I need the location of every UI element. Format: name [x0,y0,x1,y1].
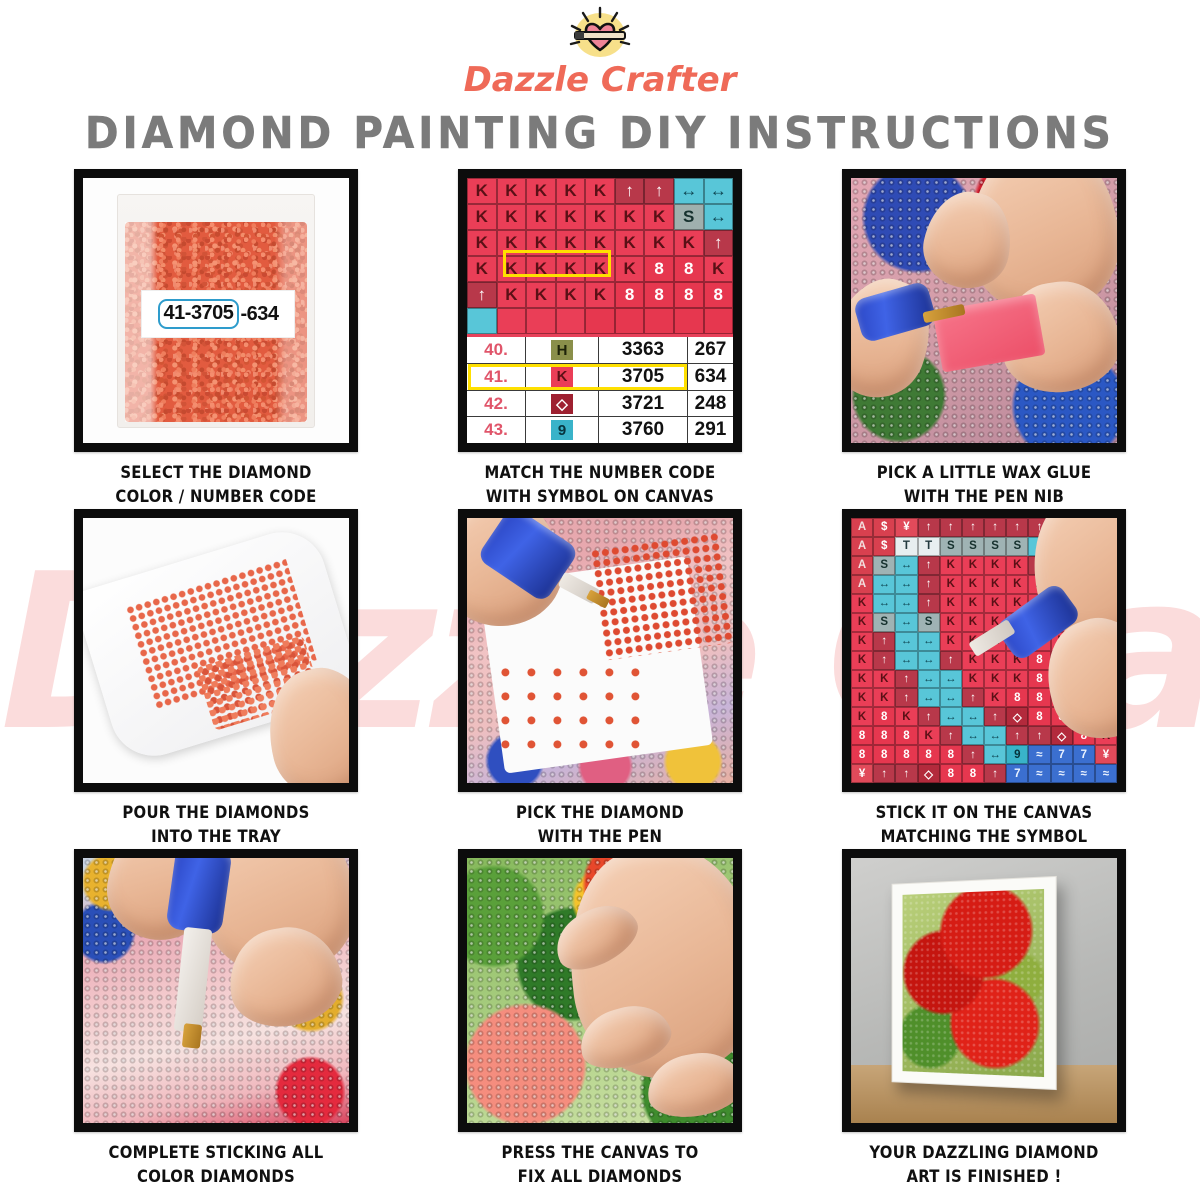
step-caption-4: POUR THE DIAMONDS INTO THE TRAY [66,801,366,849]
canvas-grid-cell: ↔ [940,688,962,707]
legend-symbol: 9 [551,420,573,440]
canvas-grid-cell: K [984,651,1006,670]
caption-line-1: STICK IT ON THE CANVAS [834,801,1134,825]
caption-line-1: YOUR DAZZLING DIAMOND [834,1141,1134,1165]
page-header: Dazzle Crafter DIAMOND PAINTING DIY INST… [0,0,1200,159]
canvas-grid-cell: K [851,670,873,689]
brand-name: Dazzle Crafter [0,60,1200,100]
color-legend-table: 40. H 3363 267 41. K 3705 634 [467,337,733,443]
canvas-grid-cell: ↑ [984,764,1006,783]
chart-cell: K [704,256,734,282]
step-caption-2: MATCH THE NUMBER CODE WITH SYMBOL ON CAN… [450,461,750,509]
canvas-grid-cell: K [851,613,873,632]
chart-cell: ↑ [467,282,497,308]
canvas-grid-cell: ↔ [962,726,984,745]
canvas-grid-cell: T [918,537,940,556]
canvas-grid-cell: 8 [873,726,895,745]
canvas-grid-cell: ↔ [895,594,917,613]
canvas-grid-cell: ↑ [918,707,940,726]
step-card-5: PICK THE DIAMOND WITH THE PEN [458,509,742,849]
chart-cell [556,308,586,334]
canvas-grid-cell: ↑ [895,688,917,707]
canvas-grid-cell: 8 [940,745,962,764]
legend-symbol-cell: 9 [526,417,599,443]
step-card-3: PICK A LITTLE WAX GLUE WITH THE PEN NIB [842,169,1126,509]
canvas-grid-cell: S [1006,537,1028,556]
canvas-grid-cell: ≈ [1051,764,1073,783]
canvas-grid-cell: ↔ [940,707,962,726]
canvas-grid-cell: 8 [1028,707,1050,726]
caption-line-2: WITH THE PEN NIB [834,485,1134,509]
chart-cell: K [526,204,556,230]
legend-number: 40. [467,337,526,363]
canvas-grid-cell: ↔ [962,707,984,726]
step-card-8: PRESS THE CANVAS TO FIX ALL DIAMONDS [458,849,742,1189]
step-card-9: YOUR DAZZLING DIAMOND ART IS FINISHED ! [842,849,1126,1189]
picture-frame [892,876,1057,1090]
canvas-grid-cell: ↑ [1006,726,1028,745]
chart-cell [674,308,704,334]
code-highlight: 41-3705 [158,299,240,329]
legend-number: 43. [467,417,526,443]
chart-cell: ↑ [615,178,645,204]
step-card-7: COMPLETE STICKING ALL COLOR DIAMONDS [74,849,358,1189]
step-image-8 [458,849,742,1132]
chart-cell [615,308,645,334]
chart-cell: K [526,178,556,204]
legend-row: 42. ◇ 3721 248 [467,391,733,418]
chart-cell: 8 [615,282,645,308]
chart-cell: K [644,230,674,256]
step-image-1: 41-3705-634 [74,169,358,452]
step-caption-6: STICK IT ON THE CANVAS MATCHING THE SYMB… [834,801,1134,849]
canvas-grid-cell: K [1006,556,1028,575]
chart-cell: K [467,178,497,204]
chart-cell: 8 [674,282,704,308]
canvas-grid-cell: ↑ [1006,518,1028,537]
canvas-grid-cell: ↑ [1028,726,1050,745]
chart-cell: ↑ [704,230,734,256]
canvas-grid-cell: ↑ [895,764,917,783]
canvas-grid-cell: K [851,632,873,651]
pen-picking-diamond-art [467,518,733,783]
canvas-grid-cell: 8 [873,707,895,726]
step-caption-9: YOUR DAZZLING DIAMOND ART IS FINISHED ! [834,1141,1134,1189]
legend-dmc-code: 3705 [599,364,688,390]
chart-cell: K [526,282,556,308]
step-image-3 [842,169,1126,452]
canvas-grid-cell: ↑ [918,594,940,613]
canvas-grid-cell: S [940,537,962,556]
canvas-grid-cell: ¥ [1095,745,1117,764]
canvas-grid-cell: 8 [873,745,895,764]
legend-dmc-code: 3760 [599,417,688,443]
chart-cell: K [556,204,586,230]
canvas-grid-cell: K [962,575,984,594]
legend-symbol-cell: ◇ [526,391,599,417]
canvas-grid-cell: ↔ [918,632,940,651]
canvas-grid-cell: 7 [1051,745,1073,764]
canvas-grid-cell: K [984,556,1006,575]
canvas-grid-cell: K [984,670,1006,689]
step-image-5 [458,509,742,792]
tray-diamond-rows [590,531,733,660]
step-image-4 [74,509,358,792]
step-card-4: POUR THE DIAMONDS INTO THE TRAY [74,509,358,849]
legend-number: 42. [467,391,526,417]
canvas-grid-cell: ≈ [1028,764,1050,783]
step-image-2: K K K K K ↑ ↑ ↔ ↔ K K K K [458,169,742,452]
step-caption-8: PRESS THE CANVAS TO FIX ALL DIAMONDS [450,1141,750,1189]
canvas-grid-cell: ↑ [918,518,940,537]
legend-dmc-code: 3721 [599,391,688,417]
canvas-grid-cell: ↔ [895,632,917,651]
canvas-grid-cell: ↑ [940,726,962,745]
pen-nib [182,1023,202,1049]
canvas-grid-cell: S [984,537,1006,556]
canvas-grid-cell: 8 [1028,688,1050,707]
canvas-grid-cell: A [851,537,873,556]
legend-symbol: K [551,367,573,387]
canvas-grid-cell: ◇ [1006,707,1028,726]
chart-cell: K [497,204,527,230]
canvas-grid-cell: ↔ [984,745,1006,764]
canvas-grid-cell: ↔ [984,726,1006,745]
caption-line-2: MATCHING THE SYMBOL [834,825,1134,849]
caption-line-1: PICK THE DIAMOND [450,801,750,825]
canvas-grid-cell: K [940,594,962,613]
canvas-grid-cell: ↑ [918,575,940,594]
caption-line-2: ART IS FINISHED ! [834,1165,1134,1189]
canvas-grid-cell: A [851,575,873,594]
chart-cell: ↔ [704,178,734,204]
canvas-grid-cell: 8 [851,745,873,764]
step-image-6: A$¥↑↑↑↑↑↑↑KKA$TTSSSS↔↔SKAS↔↑KKKK↑↔↔KA↔↔↑… [842,509,1126,792]
legend-symbol-cell: K [526,364,599,390]
step-caption-3: PICK A LITTLE WAX GLUE WITH THE PEN NIB [834,461,1134,509]
legend-symbol: H [551,340,573,360]
chart-cell [704,308,734,334]
chart-cell: K [467,204,497,230]
caption-line-1: PRESS THE CANVAS TO [450,1141,750,1165]
caption-line-2: WITH SYMBOL ON CANVAS [450,485,750,509]
pen-picking-wax-art [851,178,1117,443]
step-caption-7: COMPLETE STICKING ALL COLOR DIAMONDS [66,1141,366,1189]
canvas-grid-cell: ↔ [873,575,895,594]
chart-cell: K [467,230,497,256]
bag-label: 41-3705-634 [141,290,295,338]
chart-cell [644,308,674,334]
legend-row: 43. 9 3760 291 [467,417,733,443]
poppy-artwork [903,889,1045,1077]
canvas-grid-cell: K [851,688,873,707]
canvas-grid-cell: ↑ [962,688,984,707]
canvas-grid-cell: ↔ [895,613,917,632]
chart-cell: K [644,204,674,230]
canvas-grid-cell: ◇ [918,764,940,783]
canvas-grid-cell: T [895,537,917,556]
brand-logo: Dazzle Crafter [0,4,1200,100]
canvas-grid-cell: K [940,575,962,594]
step-image-7 [74,849,358,1132]
chart-cell: ↔ [704,204,734,230]
chart-cell: 8 [644,282,674,308]
canvas-grid-cell: ↔ [940,670,962,689]
canvas-grid-cell: ↔ [895,651,917,670]
canvas-grid-cell: ↑ [895,670,917,689]
canvas-grid-cell: ¥ [895,518,917,537]
canvas-grid-cell: 8 [895,745,917,764]
canvas-grid-cell: K [918,726,940,745]
chart-cell: K [585,178,615,204]
canvas-grid-cell: 9 [1006,745,1028,764]
legend-row: 41. K 3705 634 [467,364,733,391]
chart-cell: K [556,178,586,204]
steps-grid: 41-3705-634 SELECT THE DIAMOND COLOR / N… [74,169,1126,1189]
canvas-grid-cell: $ [873,537,895,556]
chart-cell: S [674,204,704,230]
legend-number: 41. [467,364,526,390]
canvas-chart-art: K K K K K ↑ ↑ ↔ ↔ K K K K [467,178,733,443]
caption-line-1: POUR THE DIAMONDS [66,801,366,825]
chart-cell: K [615,204,645,230]
step-image-9 [842,849,1126,1132]
canvas-grid-cell: ↑ [962,518,984,537]
canvas-grid-cell: K [962,670,984,689]
heart-sunburst-icon [561,4,639,64]
legend-count: 267 [688,337,733,363]
canvas-grid-cell: S [873,613,895,632]
canvas-grid-cell: ≈ [1073,764,1095,783]
chart-cell: K [467,256,497,282]
legend-symbol: ◇ [551,394,573,414]
legend-dmc-code: 3363 [599,337,688,363]
step-card-1: 41-3705-634 SELECT THE DIAMOND COLOR / N… [74,169,358,509]
legend-count: 248 [688,391,733,417]
canvas-grid-cell: ◇ [1051,726,1073,745]
caption-line-2: COLOR / NUMBER CODE [66,485,366,509]
canvas-grid-cell: ↔ [918,651,940,670]
canvas-grid-cell: ↔ [873,594,895,613]
canvas-grid-cell: A [851,556,873,575]
code-rest: -634 [240,303,278,326]
framed-poppy-painting-art [851,858,1117,1123]
loose-diamonds [495,664,645,756]
caption-line-1: COMPLETE STICKING ALL [66,1141,366,1165]
canvas-grid-cell: K [984,575,1006,594]
chart-cell: 8 [674,256,704,282]
canvas-grid-cell: 8 [962,764,984,783]
canvas-grid-cell: ≈ [1028,745,1050,764]
canvas-grid-cell: K [940,632,962,651]
canvas-grid-cell: $ [873,518,895,537]
canvas-grid-cell: K [895,707,917,726]
caption-line-1: MATCH THE NUMBER CODE [450,461,750,485]
chart-cell: K [497,178,527,204]
chart-cell: 8 [704,282,734,308]
canvas-grid-cell: ↑ [962,745,984,764]
caption-line-2: FIX ALL DIAMONDS [450,1165,750,1189]
canvas-grid-cell: A [851,518,873,537]
canvas-grid-cell: 8 [1006,688,1028,707]
legend-symbol-cell: H [526,337,599,363]
canvas-grid-cell: 8 [851,726,873,745]
canvas-grid-cell: S [873,556,895,575]
chart-cell: K [585,282,615,308]
canvas-grid-cell: K [984,688,1006,707]
canvas-grid-cell: ↔ [918,670,940,689]
canvas-grid-cell: K [940,556,962,575]
bag-of-diamonds-art: 41-3705-634 [83,178,349,443]
canvas-grid-cell: ↑ [918,556,940,575]
canvas-grid-cell: 7 [1073,745,1095,764]
legend-count: 291 [688,417,733,443]
canvas-grid-cell: K [962,613,984,632]
step-caption-5: PICK THE DIAMOND WITH THE PEN [450,801,750,849]
canvas-grid-cell: ↔ [918,688,940,707]
step-card-6: A$¥↑↑↑↑↑↑↑KKA$TTSSSS↔↔SKAS↔↑KKKK↑↔↔KA↔↔↑… [842,509,1126,849]
chart-cell: K [556,282,586,308]
chart-cell: K [585,204,615,230]
symbol-grid-art: A$¥↑↑↑↑↑↑↑KKA$TTSSSS↔↔SKAS↔↑KKKK↑↔↔KA↔↔↑… [851,518,1117,783]
canvas-grid-cell: 7 [1006,764,1028,783]
canvas-grid-cell: K [1006,670,1028,689]
canvas-grid-cell: ↑ [873,651,895,670]
canvas-grid-cell: ↔ [895,556,917,575]
chart-cell: K [674,230,704,256]
caption-line-2: WITH THE PEN [450,825,750,849]
canvas-grid-cell: 8 [918,745,940,764]
canvas-grid-cell: K [1006,575,1028,594]
canvas-grid-cell: S [962,537,984,556]
canvas-grid-cell: K [940,613,962,632]
canvas-grid-cell: ↔ [895,575,917,594]
canvas-grid-cell: K [962,556,984,575]
chart-cell: K [615,230,645,256]
legend-count: 634 [688,364,733,390]
chart-highlight-box [503,250,611,277]
canvas-grid-cell: K [962,594,984,613]
canvas-grid-cell: K [873,688,895,707]
canvas-grid-cell: ↑ [940,518,962,537]
caption-line-2: INTO THE TRAY [66,825,366,849]
chart-cell: ↔ [674,178,704,204]
canvas-grid-cell: ↑ [873,632,895,651]
hand-pressing-canvas-art [467,858,733,1123]
caption-line-1: PICK A LITTLE WAX GLUE [834,461,1134,485]
canvas-grid-cell: K [851,707,873,726]
chart-cell: K [497,282,527,308]
canvas-grid-cell: 8 [895,726,917,745]
chart-cell [585,308,615,334]
legend-row: 40. H 3363 267 [467,337,733,364]
canvas-grid-cell: ↑ [984,518,1006,537]
canvas-grid-cell: K [873,670,895,689]
canvas-grid-cell: K [984,594,1006,613]
canvas-grid-cell: S [918,613,940,632]
caption-line-1: SELECT THE DIAMOND [66,461,366,485]
chart-cell: 8 [644,256,674,282]
chart-cell: ↑ [644,178,674,204]
chart-cell [467,308,497,334]
step-card-2: K K K K K ↑ ↑ ↔ ↔ K K K K [458,169,742,509]
page-title: DIAMOND PAINTING DIY INSTRUCTIONS [0,108,1200,159]
chart-cell [526,308,556,334]
step-caption-1: SELECT THE DIAMOND COLOR / NUMBER CODE [66,461,366,509]
caption-line-2: COLOR DIAMONDS [66,1165,366,1189]
canvas-grid-cell: ↑ [873,764,895,783]
pen-on-beaded-canvas-art [83,858,349,1123]
chart-cell: K [615,256,645,282]
canvas-grid-cell: 8 [940,764,962,783]
canvas-symbol-chart: K K K K K ↑ ↑ ↔ ↔ K K K K [467,178,733,338]
canvas-grid-cell: K [851,594,873,613]
canvas-grid-cell: ↑ [984,707,1006,726]
canvas-grid-cell: ↑ [940,651,962,670]
canvas-grid-cell: ≈ [1095,764,1117,783]
canvas-grid-cell: K [851,651,873,670]
chart-cell [497,308,527,334]
tray-with-diamonds-art [83,518,349,783]
canvas-grid-cell: ¥ [851,764,873,783]
